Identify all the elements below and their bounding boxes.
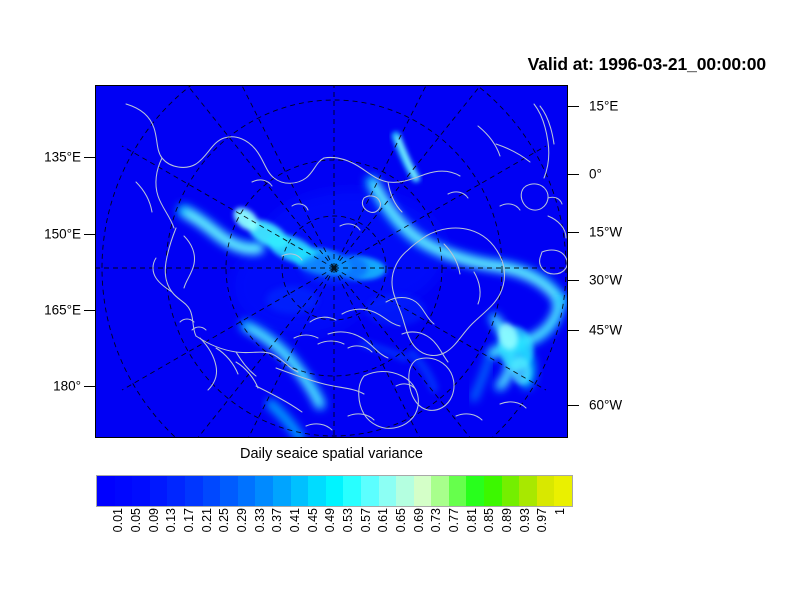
- colorbar-label-8: 0.33: [253, 508, 266, 532]
- axis-tick-right-5: [568, 405, 579, 406]
- colorbar-label-6: 0.25: [218, 508, 231, 532]
- colorbar-cell-2: [132, 476, 150, 506]
- axis-label-right-3: 30°W: [589, 273, 622, 287]
- axis-tick-right-4: [568, 330, 579, 331]
- colorbar-cell-23: [502, 476, 520, 506]
- colorbar-cell-3: [150, 476, 168, 506]
- axis-tick-left-1: [84, 234, 95, 235]
- colorbar-cell-22: [484, 476, 502, 506]
- colorbar-cell-4: [167, 476, 185, 506]
- colorbar-cell-25: [537, 476, 555, 506]
- map-canvas: [96, 86, 567, 437]
- colorbar-cell-8: [238, 476, 256, 506]
- colorbar-cell-12: [308, 476, 326, 506]
- colorbar-cell-0: [97, 476, 115, 506]
- axis-tick-left-2: [84, 310, 95, 311]
- colorbar-label-11: 0.45: [306, 508, 319, 532]
- colorbar-cell-9: [255, 476, 273, 506]
- axis-tick-right-1: [568, 174, 579, 175]
- colorbar-label-0: 0.01: [112, 508, 125, 532]
- colorbar-cell-15: [361, 476, 379, 506]
- axis-tick-right-0: [568, 106, 579, 107]
- colorbar-label-25: 1: [554, 508, 567, 515]
- colorbar-cell-20: [449, 476, 467, 506]
- axis-tick-right-3: [568, 280, 579, 281]
- axis-label-left-0: 135°E: [44, 150, 81, 164]
- colorbar-cell-21: [466, 476, 484, 506]
- colorbar-cell-19: [431, 476, 449, 506]
- axis-label-right-0: 15°E: [589, 99, 618, 113]
- colorbar-cell-16: [379, 476, 397, 506]
- colorbar-label-1: 0.05: [130, 508, 143, 532]
- colorbar-label-17: 0.69: [412, 508, 425, 532]
- axis-tick-left-3: [84, 386, 95, 387]
- colorbar-cell-14: [343, 476, 361, 506]
- colorbar-cell-11: [291, 476, 309, 506]
- axis-label-right-1: 0°: [589, 167, 602, 181]
- colorbar-label-20: 0.81: [465, 508, 478, 532]
- axis-label-right-2: 15°W: [589, 225, 622, 239]
- map-plot-area[interactable]: [95, 85, 568, 438]
- colorbar-label-3: 0.13: [165, 508, 178, 532]
- axis-tick-left-0: [84, 157, 95, 158]
- colorbar-label-10: 0.41: [289, 508, 302, 532]
- colorbar-label-7: 0.29: [236, 508, 249, 532]
- colorbar-cell-17: [396, 476, 414, 506]
- colorbar-label-22: 0.89: [501, 508, 514, 532]
- axis-label-left-2: 165°E: [44, 303, 81, 317]
- colorbar-cell-24: [519, 476, 537, 506]
- colorbar-label-24: 0.97: [536, 508, 549, 532]
- axis-label-left-3: 180°: [53, 379, 81, 393]
- colorbar-label-5: 0.21: [200, 508, 213, 532]
- colorbar-label-14: 0.57: [359, 508, 372, 532]
- colorbar-label-9: 0.37: [271, 508, 284, 532]
- colorbar-label-21: 0.85: [483, 508, 496, 532]
- colorbar-cell-10: [273, 476, 291, 506]
- colorbar-caption: Daily seaice spatial variance: [95, 446, 568, 462]
- colorbar-label-4: 0.17: [183, 508, 196, 532]
- colorbar-label-13: 0.53: [342, 508, 355, 532]
- colorbar-label-12: 0.49: [324, 508, 337, 532]
- colorbar-cell-7: [220, 476, 238, 506]
- colorbar-cell-6: [203, 476, 221, 506]
- colorbar-tick-labels: 0.010.050.090.130.170.210.250.290.330.37…: [96, 508, 573, 568]
- page-title: Valid at: 1996-03-21_00:00:00: [0, 54, 766, 75]
- colorbar[interactable]: 0.010.050.090.130.170.210.250.290.330.37…: [96, 475, 573, 507]
- axis-label-left-1: 150°E: [44, 227, 81, 241]
- axis-label-right-4: 45°W: [589, 323, 622, 337]
- colorbar-cell-1: [115, 476, 133, 506]
- colorbar-label-23: 0.93: [518, 508, 531, 532]
- colorbar-label-16: 0.65: [395, 508, 408, 532]
- colorbar-label-19: 0.77: [448, 508, 461, 532]
- colorbar-label-2: 0.09: [147, 508, 160, 532]
- axis-tick-right-2: [568, 232, 579, 233]
- colorbar-label-15: 0.61: [377, 508, 390, 532]
- colorbar-gradient[interactable]: [96, 475, 573, 507]
- colorbar-cell-26: [554, 476, 572, 506]
- colorbar-cell-18: [414, 476, 432, 506]
- colorbar-cell-5: [185, 476, 203, 506]
- axis-label-right-5: 60°W: [589, 398, 622, 412]
- colorbar-cell-13: [326, 476, 344, 506]
- colorbar-label-18: 0.73: [430, 508, 443, 532]
